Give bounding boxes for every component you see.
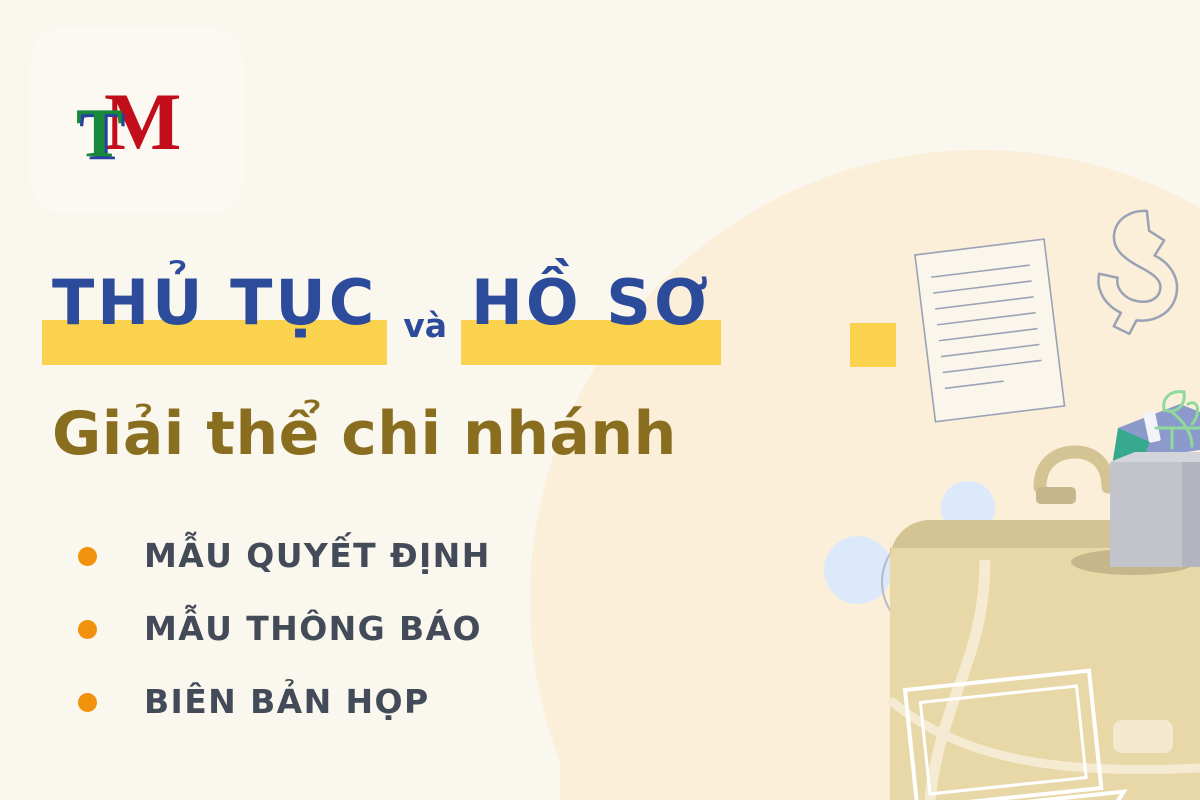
- bullet-label: MẪU QUYẾT ĐỊNH: [144, 537, 491, 575]
- bullet-dot-icon: [78, 693, 97, 712]
- logo-card[interactable]: M T T: [30, 28, 243, 213]
- bullet-label: BIÊN BẢN HỌP: [144, 683, 430, 721]
- bullet-label: MẪU THÔNG BÁO: [144, 610, 482, 648]
- subtitle: Giải thể chi nhánh: [52, 398, 677, 470]
- headline-conjunction: và: [403, 309, 447, 342]
- headline-word-thu-tuc: THỦ TỤC: [42, 265, 387, 341]
- headline-word-1-text: THỦ TỤC: [52, 266, 377, 339]
- bullet-list: MẪU QUYẾT ĐỊNH MẪU THÔNG BÁO BIÊN BẢN HỌ…: [78, 533, 491, 725]
- headline-word-2-text: HỒ SƠ: [471, 266, 711, 339]
- list-item[interactable]: MẪU THÔNG BÁO: [78, 606, 491, 652]
- bullet-dot-icon: [78, 620, 97, 639]
- headline-word-ho-so: HỒ SƠ: [461, 265, 721, 341]
- poster-canvas: M T T THỦ TỤC và HỒ SƠ Giải thể chi nhán…: [0, 0, 1200, 800]
- list-item[interactable]: BIÊN BẢN HỌP: [78, 679, 491, 725]
- bullet-dot-icon: [78, 547, 97, 566]
- list-item[interactable]: MẪU QUYẾT ĐỊNH: [78, 533, 491, 579]
- headline: THỦ TỤC và HỒ SƠ: [42, 265, 721, 370]
- logo-letter-t: T: [76, 99, 123, 169]
- logo-mark: M T T: [74, 81, 204, 171]
